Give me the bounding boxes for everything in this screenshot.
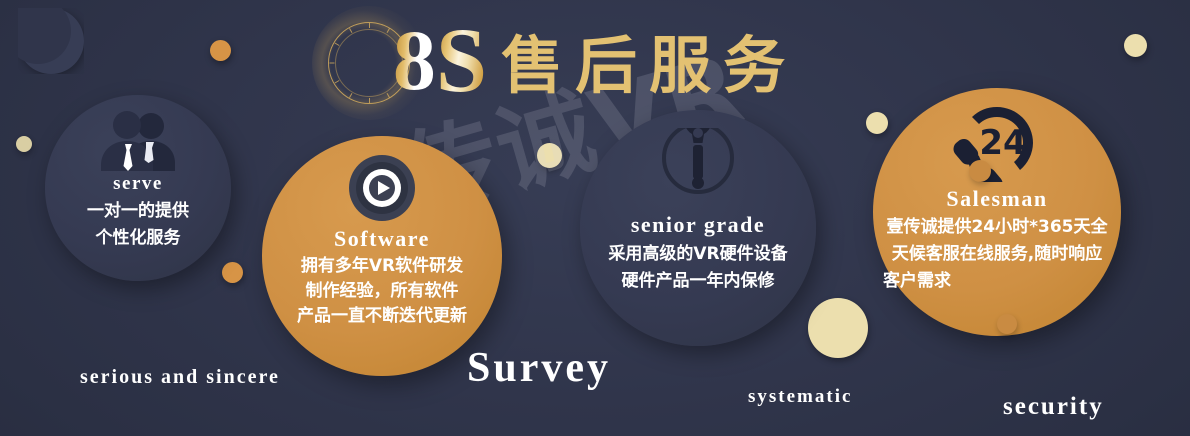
card-senior-grade[interactable]: senior grade 采用高级的VR硬件设备 硬件产品一年内保修 xyxy=(580,110,816,346)
card-serve[interactable]: serve 一对一的提供 个性化服务 xyxy=(45,95,231,281)
decor-dot-cream-center xyxy=(537,143,562,168)
title-number-8: 8 xyxy=(393,17,434,103)
card-salesman[interactable]: 24 Salesman 壹传诚提供24小时*365天全 天候客服在线服务,随时响… xyxy=(873,88,1121,336)
card-body: 一对一的提供 个性化服务 xyxy=(45,198,231,252)
card-body: 采用高级的VR硬件设备 硬件产品一年内保修 xyxy=(580,241,816,295)
card-software[interactable]: Software 拥有多年VR软件研发 制作经验，所有软件 产品一直不断迭代更新 xyxy=(262,136,502,376)
card-heading: senior grade xyxy=(580,212,816,238)
title-letter-s: S xyxy=(436,14,487,106)
decor-dot-orange-mid-left xyxy=(222,262,243,283)
poster-canvas: 壹传诚VR 8S售后服务 xyxy=(0,0,1190,436)
decor-dot-cream-far-left xyxy=(16,136,32,152)
decor-dot-on-salesman-bottom xyxy=(997,314,1017,334)
24h-phone-support-icon: 24 xyxy=(873,102,1121,182)
card-body: 拥有多年VR软件研发 制作经验，所有软件 产品一直不断迭代更新 xyxy=(262,254,502,329)
caption-survey: Survey xyxy=(467,344,611,392)
icon-24-label: 24 xyxy=(979,123,1026,163)
caption-serious-and-sincere: serious and sincere xyxy=(80,366,280,389)
people-group-icon xyxy=(45,111,231,171)
card-heading: Salesman xyxy=(873,186,1121,212)
card-heading: serve xyxy=(45,173,231,195)
wrench-tool-icon xyxy=(580,128,816,200)
play-button-icon xyxy=(262,154,502,222)
decor-dot-on-salesman xyxy=(969,160,991,182)
caption-systematic: systematic xyxy=(748,386,852,408)
caption-security: security xyxy=(1003,393,1104,421)
card-body: 壹传诚提供24小时*365天全 天候客服在线服务,随时响应 客户需求 xyxy=(873,214,1121,295)
title-chinese: 售后服务 xyxy=(501,15,797,105)
card-heading: Software xyxy=(262,226,502,252)
decor-dot-cream-large-bottom xyxy=(808,298,868,358)
